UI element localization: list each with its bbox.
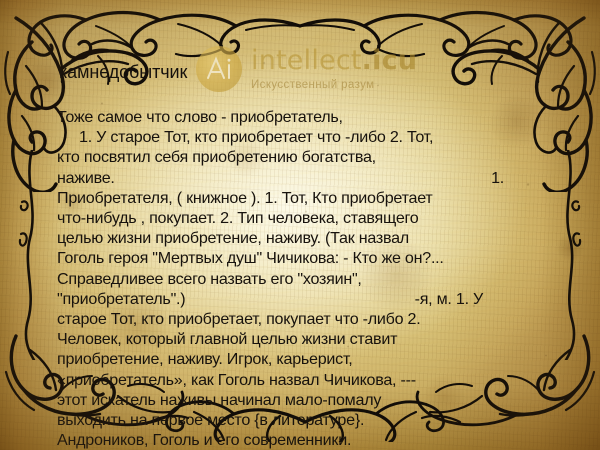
headword-title: камнедобытчик [59, 62, 187, 83]
right-edge-rule-ornament [550, 150, 590, 360]
watermark-title: intellect.icu [251, 47, 417, 74]
article-line-text: "приобретатель".) [57, 289, 185, 309]
watermark: intellect.icu Искусственный разум [196, 46, 417, 92]
article-line: Гоголь героя "Мертвых душ" Чичикова: - К… [57, 248, 527, 268]
watermark-text: intellect.icu Искусственный разум [251, 47, 417, 92]
article-line: наживе. 1. [57, 168, 504, 188]
ai-logo-icon [196, 46, 242, 92]
article-line: «приобретатель», как Гоголь назвал Чичик… [57, 370, 527, 390]
left-edge-rule-ornament [10, 150, 50, 360]
article-line: Приобретателя, ( книжное ). 1. Тот, Кто … [57, 188, 527, 208]
article-line: кто посвятил себя приобретению богатства… [57, 147, 527, 167]
article-line: Справедливее всего назвать его "хозяин", [57, 269, 527, 289]
article-line: Человек, который главной целью жизни ста… [57, 329, 527, 349]
article-line: Андроников, Гоголь и его современники. [57, 430, 527, 450]
article-sense-number: 1. [491, 168, 504, 188]
dictionary-article: Тоже самое что слово - приобретатель, 1.… [57, 107, 527, 450]
watermark-tagline: Искусственный разум [251, 80, 417, 92]
article-line-text: 1. У старое Тот, кто приобретает что -ли… [79, 128, 433, 146]
article-line: этот искатель наживы начинал мало-помалу [57, 390, 527, 410]
parchment-page: intellect.icu Искусственный разум камнед… [0, 0, 600, 450]
article-line: что-нибудь , покупает. 2. Тип человека, … [57, 208, 527, 228]
article-line: Тоже самое что слово - приобретатель, [57, 107, 527, 127]
article-line: приобретение, наживу. Игрок, карьерист, [57, 349, 527, 369]
article-line: выходить на первое место {в литературе}. [57, 410, 527, 430]
article-line: 1. У старое Тот, кто приобретает что -ли… [57, 127, 527, 147]
article-grammar-note: -я, м. 1. У [415, 289, 483, 309]
article-line: старое Тот, кто приобретает, покупает чт… [57, 309, 527, 329]
watermark-name-light: intellect [251, 45, 362, 76]
article-line-text: наживе. [57, 168, 115, 188]
watermark-name-bold: .icu [362, 45, 418, 76]
article-line: "приобретатель".) -я, м. 1. У [57, 289, 483, 309]
article-line: целью жизни приобретение, наживу. (Так н… [57, 228, 527, 248]
